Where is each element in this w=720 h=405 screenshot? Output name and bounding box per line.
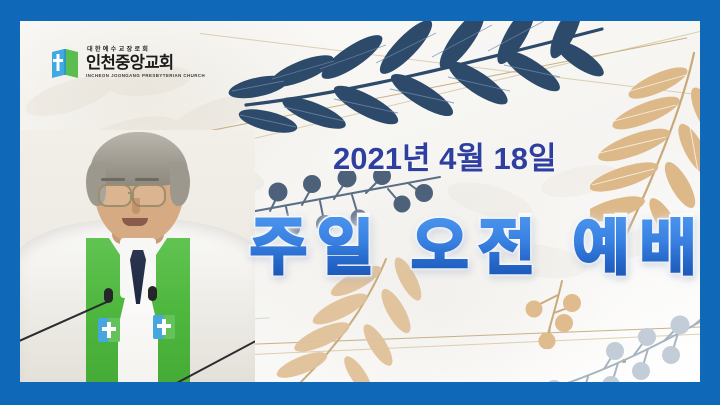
church-logo: 대한예수교장로회 인천중앙교회 INCHEON JOONGANG PRESBYT… — [50, 47, 205, 79]
pastor-nose — [132, 198, 140, 214]
pastor-eyebrow-left — [101, 178, 125, 181]
pastor-mouth — [122, 218, 148, 226]
service-title: 주일 오전 예배 — [250, 217, 700, 279]
microphone-head-right — [148, 286, 157, 301]
tan-accent-dot-top — [352, 52, 356, 56]
tan-accent-dot-bottom-right-2 — [638, 334, 642, 338]
white-content-card: 대한예수교장로회 인천중앙교회 INCHEON JOONGANG PRESBYT… — [20, 21, 700, 382]
pastor-eyebrow-right — [135, 178, 159, 181]
pastor-at-pulpit — [20, 130, 255, 382]
stole-church-emblem-right — [153, 315, 175, 339]
church-name-en: INCHEON JOONGANG PRESBYTERIAN CHURCH — [86, 74, 205, 79]
stole-church-emblem-left — [98, 318, 120, 342]
church-name-kr: 인천중앙교회 — [86, 55, 205, 72]
church-logo-text: 대한예수교장로회 인천중앙교회 INCHEON JOONGANG PRESBYT… — [86, 47, 205, 79]
open-bible-with-cross-icon — [50, 47, 80, 79]
worship-title-card: 대한예수교장로회 인천중앙교회 INCHEON JOONGANG PRESBYT… — [0, 0, 720, 405]
pastor-glasses-left-lens — [98, 184, 132, 207]
tan-accent-dot-bottom-right-1 — [622, 359, 626, 363]
pastor-glasses-bridge — [128, 192, 134, 194]
service-date: 2021년 4월 18일 — [333, 133, 556, 178]
microphone-head-left — [104, 288, 113, 303]
denomination-name-kr: 대한예수교장로회 — [86, 47, 205, 53]
